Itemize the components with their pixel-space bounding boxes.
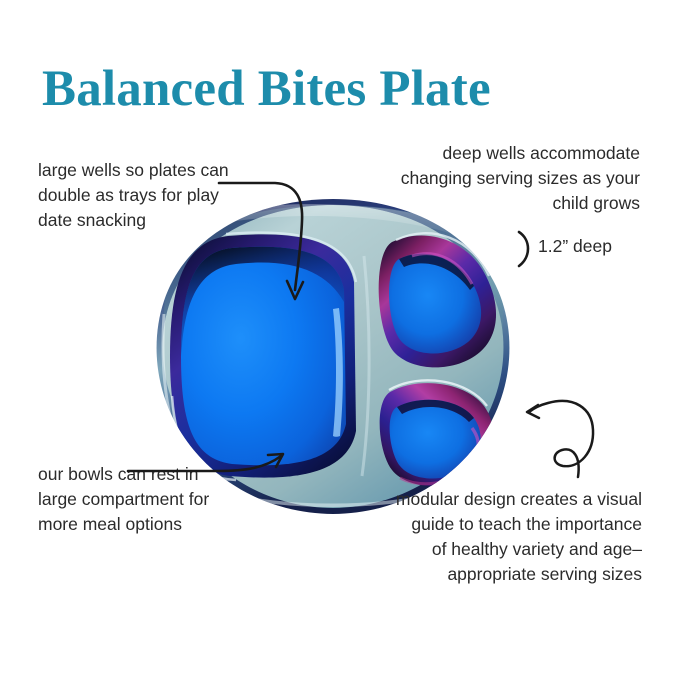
- arrowhead-modular-design: [527, 405, 539, 418]
- page-title: Balanced Bites Plate: [42, 60, 491, 118]
- annotation-deep-wells: deep wells accommodate changing serving …: [390, 141, 640, 216]
- depth-callout-label: 1.2” deep: [538, 234, 612, 259]
- right-curly-bracket-icon: [519, 232, 528, 266]
- product-infographic: Balanced Bites Plate large wells so plat…: [0, 0, 679, 679]
- leader-curl-modular-design: [529, 401, 593, 477]
- annotation-modular-design: modular design creates a visual guide to…: [394, 487, 642, 587]
- annotation-our-bowls: our bowls can rest in large compartment …: [38, 462, 238, 537]
- large-left-compartment: [181, 247, 346, 465]
- annotation-large-wells: large wells so plates can double as tray…: [38, 158, 253, 233]
